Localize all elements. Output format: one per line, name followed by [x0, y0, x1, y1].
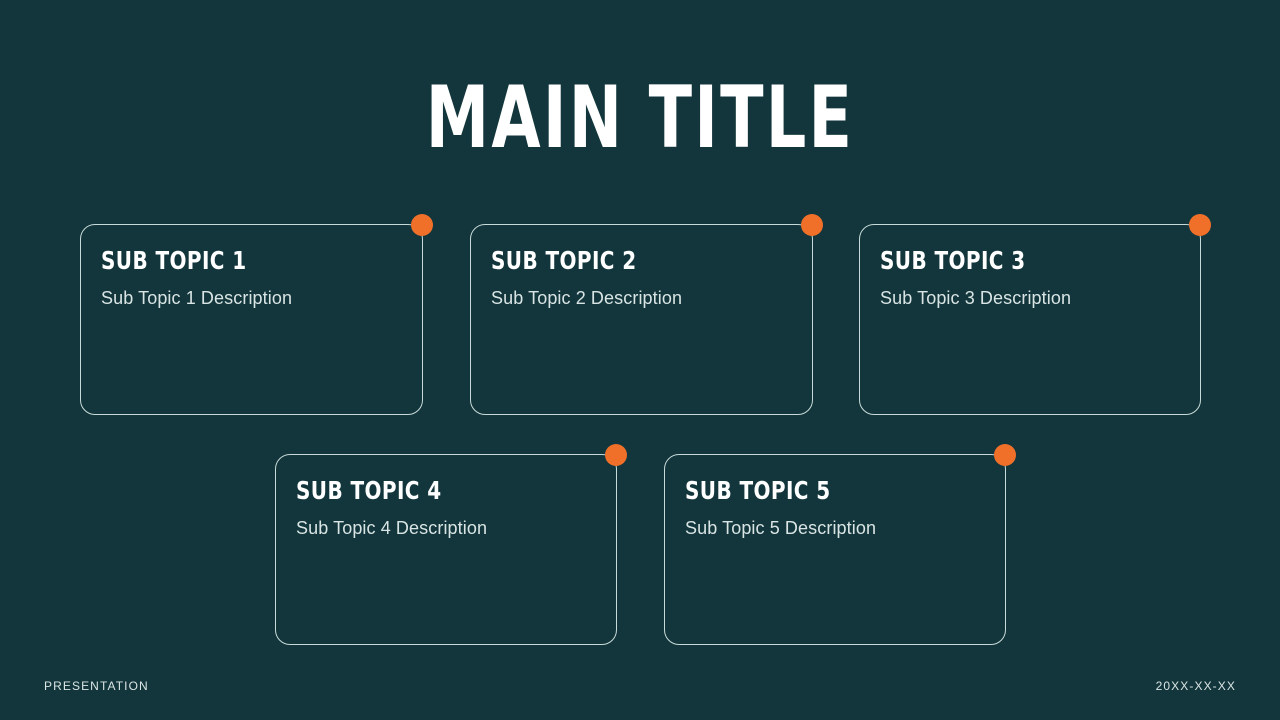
accent-dot-icon — [801, 214, 823, 236]
accent-dot-icon — [605, 444, 627, 466]
topic-card-2-title: SUB TOPIC 2 — [491, 247, 637, 274]
topic-card-4[interactable]: SUB TOPIC 4 Sub Topic 4 Description — [275, 454, 617, 645]
footer-label: PRESENTATION — [44, 678, 149, 694]
topic-card-1-title: SUB TOPIC 1 — [101, 247, 247, 274]
topic-card-4-description: Sub Topic 4 Description — [296, 517, 487, 539]
topic-card-2[interactable]: SUB TOPIC 2 Sub Topic 2 Description — [470, 224, 813, 415]
accent-dot-icon — [1189, 214, 1211, 236]
topic-card-5-title: SUB TOPIC 5 — [685, 477, 831, 504]
topic-card-5[interactable]: SUB TOPIC 5 Sub Topic 5 Description — [664, 454, 1006, 645]
topic-card-4-title: SUB TOPIC 4 — [296, 477, 442, 504]
accent-dot-icon — [411, 214, 433, 236]
topic-card-1[interactable]: SUB TOPIC 1 Sub Topic 1 Description — [80, 224, 423, 415]
topic-card-3-title: SUB TOPIC 3 — [880, 247, 1026, 274]
topic-card-3-description: Sub Topic 3 Description — [880, 287, 1071, 309]
accent-dot-icon — [994, 444, 1016, 466]
topic-card-1-description: Sub Topic 1 Description — [101, 287, 292, 309]
topic-card-5-description: Sub Topic 5 Description — [685, 517, 876, 539]
presentation-slide: MAIN TITLE SUB TOPIC 1 Sub Topic 1 Descr… — [0, 0, 1280, 720]
topic-card-3[interactable]: SUB TOPIC 3 Sub Topic 3 Description — [859, 224, 1201, 415]
footer-date: 20XX-XX-XX — [1156, 678, 1236, 694]
topic-card-2-description: Sub Topic 2 Description — [491, 287, 682, 309]
page-title: MAIN TITLE — [166, 72, 1113, 164]
